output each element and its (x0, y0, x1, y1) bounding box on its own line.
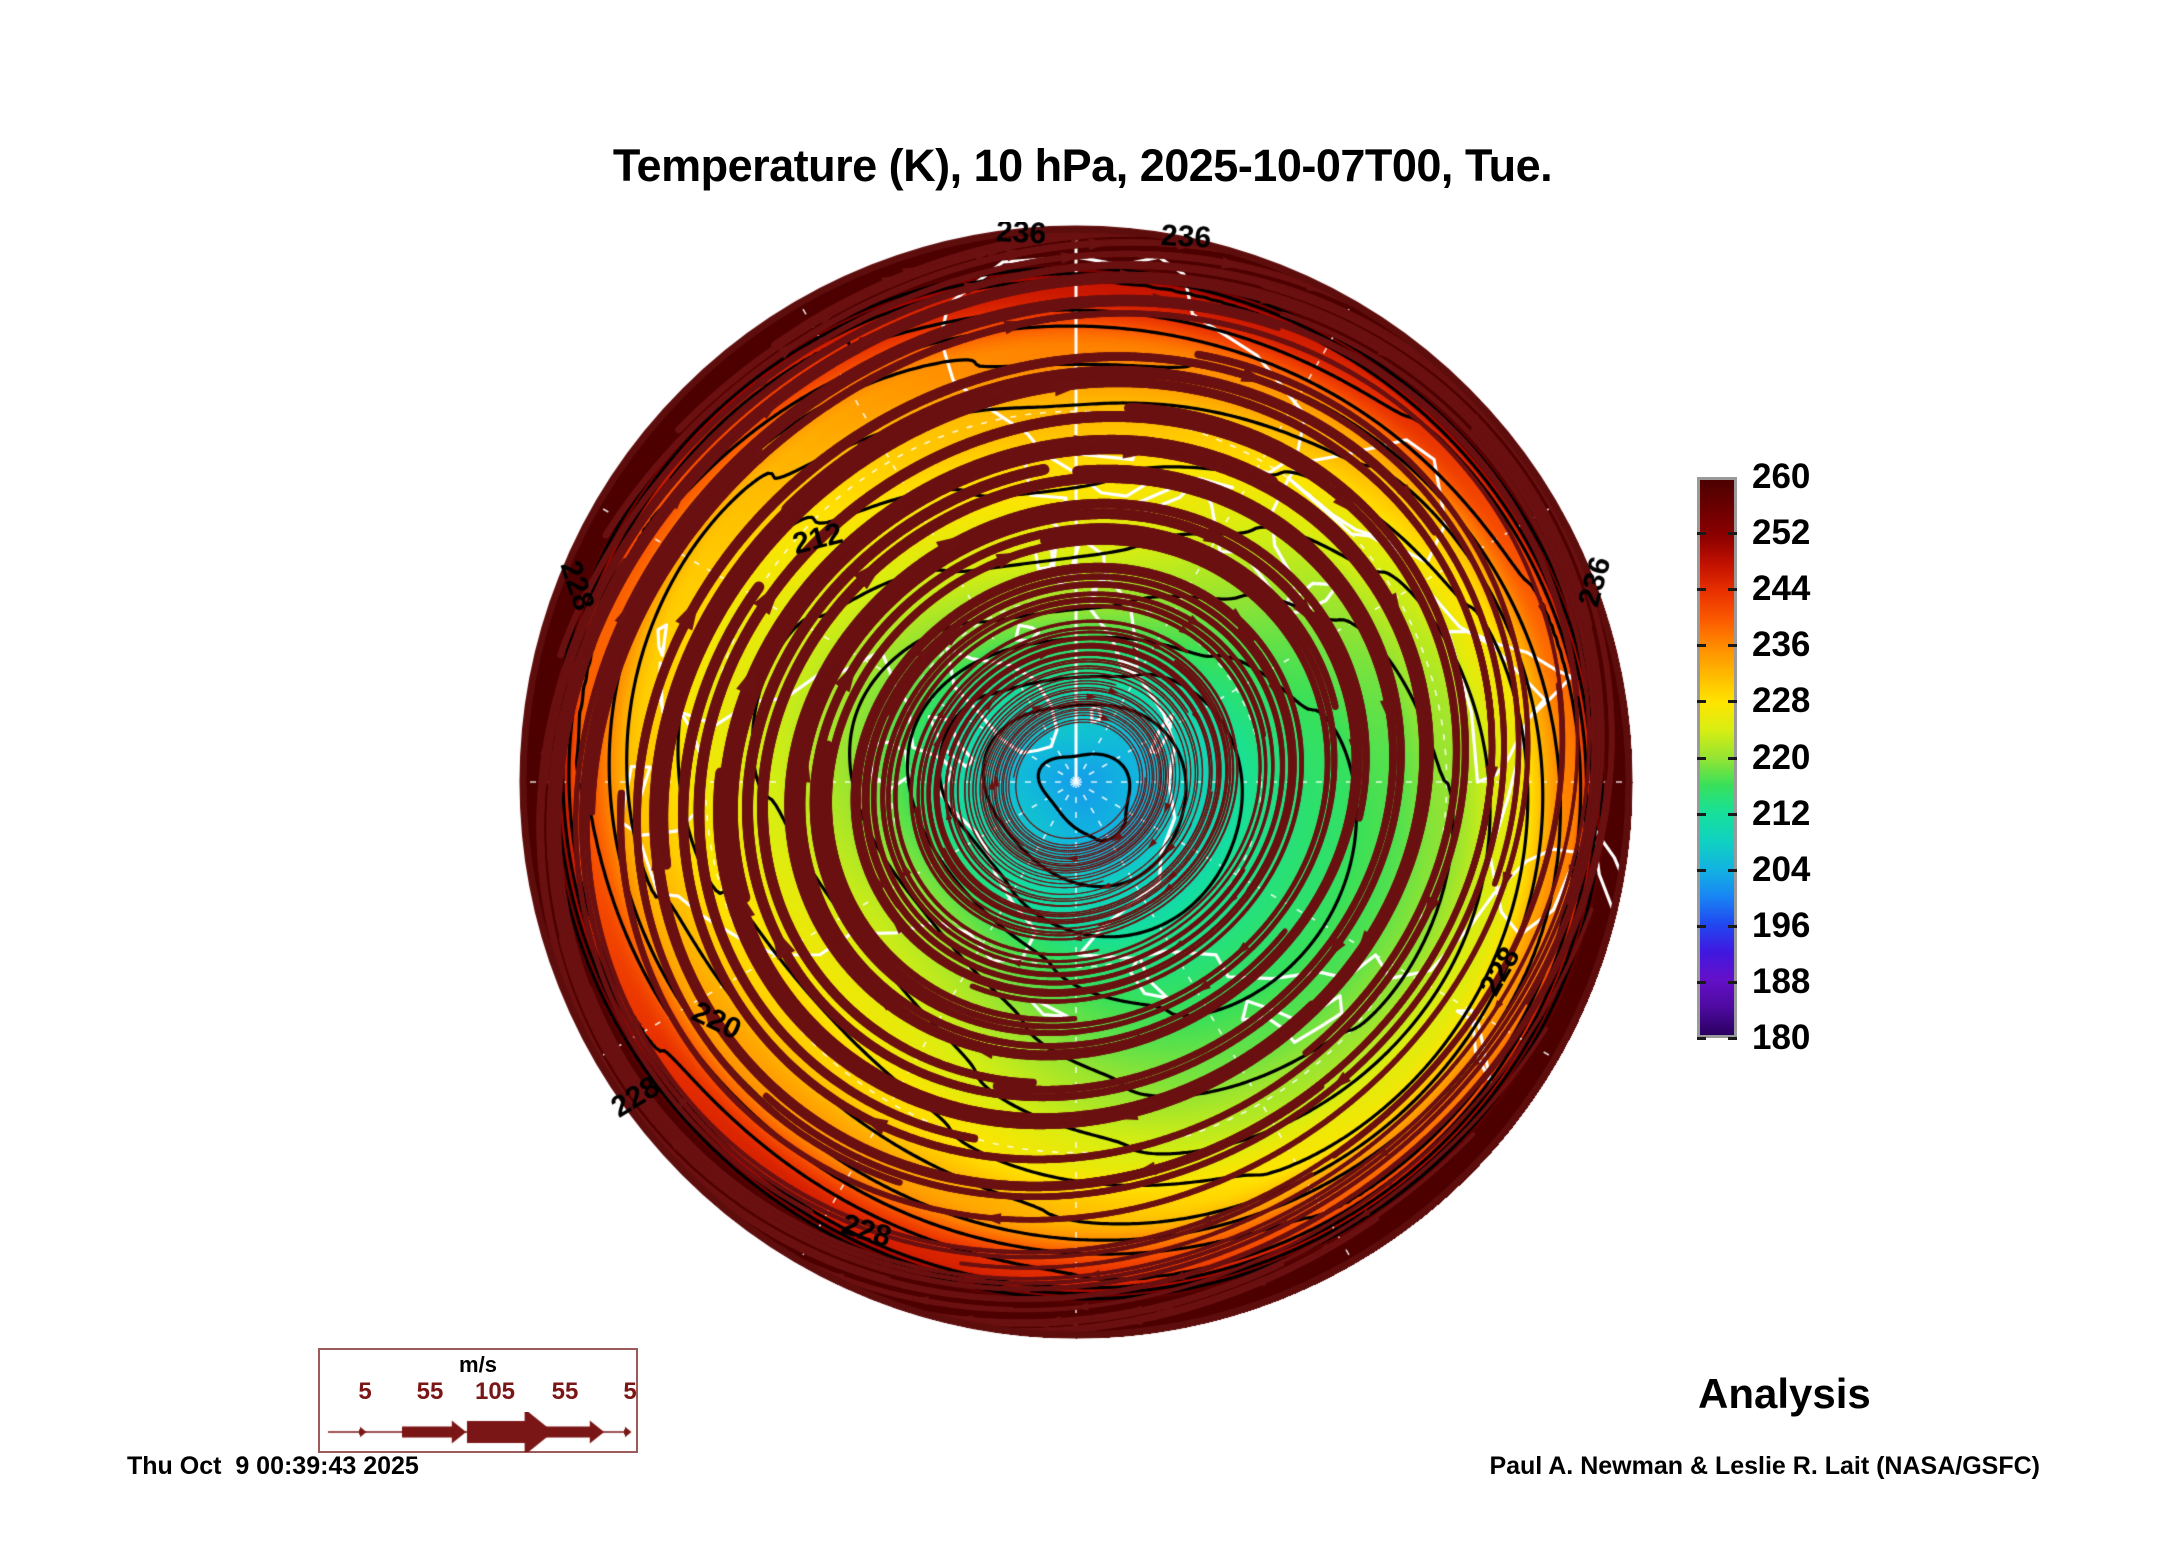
colorbar-tick-label: 260 (1752, 457, 1810, 497)
colorbar-tick-label: 212 (1752, 794, 1810, 834)
analysis-label: Analysis (1698, 1370, 1871, 1418)
colorbar-tick-label: 236 (1752, 625, 1810, 665)
generation-timestamp: Thu Oct 9 00:39:43 2025 (127, 1452, 419, 1481)
wind-speed-key: m/s 555105555 (318, 1348, 638, 1453)
colorbar-tick-label: 228 (1752, 681, 1810, 721)
author-credit: Paul A. Newman & Leslie R. Lait (NASA/GS… (1489, 1452, 2040, 1481)
colorbar-tick-label: 196 (1752, 906, 1810, 946)
wind-key-arrows (320, 1412, 636, 1452)
wind-key-value: 105 (475, 1378, 515, 1406)
colorbar-tick-label: 252 (1752, 513, 1810, 553)
colorbar-tick-label: 180 (1752, 1018, 1810, 1058)
wind-key-value: 5 (623, 1378, 636, 1406)
wind-key-unit: m/s (320, 1352, 636, 1378)
wind-key-value: 55 (552, 1378, 579, 1406)
temperature-map-canvas (508, 222, 1644, 1342)
colorbar-labels: 260252244236228220212204196188180 (1752, 477, 1902, 1038)
colorbar-tick-label: 220 (1752, 738, 1810, 778)
wind-key-values: 555105555 (320, 1378, 636, 1408)
colorbar-tick-label: 188 (1752, 962, 1810, 1002)
polar-temperature-map (508, 222, 1644, 1342)
colorbar-ticks (1697, 477, 1737, 1038)
colorbar-tick-label: 244 (1752, 569, 1810, 609)
wind-key-value: 5 (358, 1378, 371, 1406)
colorbar-tick-label: 204 (1752, 850, 1810, 890)
wind-key-value: 55 (417, 1378, 444, 1406)
page-title: Temperature (K), 10 hPa, 2025-10-07T00, … (0, 140, 2165, 192)
